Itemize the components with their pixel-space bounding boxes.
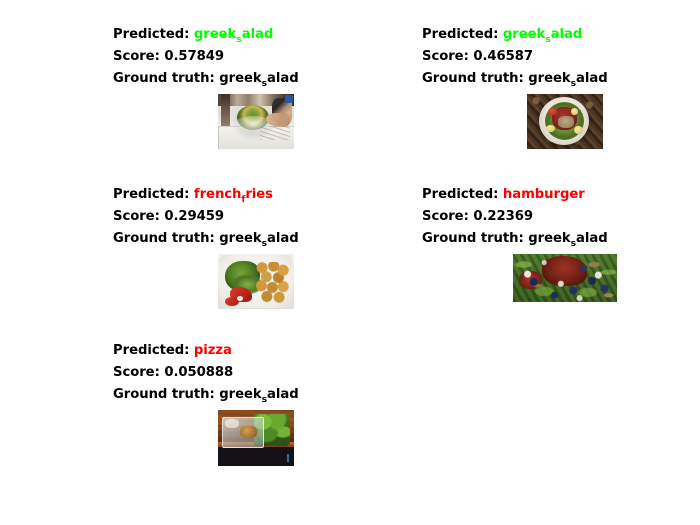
predicted-prefix-label: Predicted:: [422, 27, 503, 42]
predicted-prefix-label: Predicted:: [113, 343, 194, 358]
food-image-greek-salad-bowl: [218, 94, 294, 149]
predicted-prefix-label: Predicted:: [422, 187, 503, 202]
ground-truth-prefix-label: Ground truth:: [113, 231, 219, 246]
panel-4-ground-truth-value: greeksalad: [528, 231, 607, 246]
panel-4-predicted-value: hamburger: [503, 187, 585, 202]
panel-5-score-line: Score: 0.050888: [113, 362, 398, 384]
panel-4-ground-truth-line: Ground truth: greeksalad: [422, 228, 700, 250]
panel-3-predicted-line: Predicted: frenchfries: [113, 184, 398, 206]
score-prefix-label: Score:: [113, 365, 164, 380]
panel-4-score-line: Score: 0.22369: [422, 206, 700, 228]
panel-2-score-line: Score: 0.46587: [422, 46, 700, 68]
panel-1-score-line: Score: 0.57849: [113, 46, 398, 68]
panel-3-ground-truth-value: greeksalad: [219, 231, 298, 246]
panel-1-ground-truth-line: Ground truth: greeksalad: [113, 68, 398, 90]
panel-3-score-value: 0.29459: [164, 209, 224, 224]
ground-truth-prefix-label: Ground truth:: [113, 71, 219, 86]
panel-1-predicted-line: Predicted: greeksalad: [113, 24, 398, 46]
panel-1-predicted-value: greeksalad: [194, 27, 273, 42]
panel-2-score-value: 0.46587: [473, 49, 533, 64]
panel-5-score-value: 0.050888: [164, 365, 233, 380]
panel-5-ground-truth-line: Ground truth: greeksalad: [113, 384, 398, 406]
prediction-panel-3: Predicted: frenchfries Score: 0.29459 Gr…: [113, 184, 398, 339]
panel-2-ground-truth-value: greeksalad: [528, 71, 607, 86]
panel-1-ground-truth-value: greeksalad: [219, 71, 298, 86]
food-image-salad-plate-granite: [527, 94, 603, 149]
prediction-panel-5: Predicted: pizza Score: 0.050888 Ground …: [113, 340, 398, 495]
prediction-panel-4: Predicted: hamburger Score: 0.22369 Grou…: [422, 184, 700, 339]
panel-2-ground-truth-line: Ground truth: greeksalad: [422, 68, 700, 90]
score-prefix-label: Score:: [422, 209, 473, 224]
ground-truth-prefix-label: Ground truth:: [422, 231, 528, 246]
food-image-berry-nut-salad: [513, 254, 617, 302]
panel-3-caption: Predicted: frenchfries Score: 0.29459 Gr…: [113, 184, 398, 250]
food-image-salad-fried-cubes: [218, 254, 294, 309]
panel-2-predicted-line: Predicted: greeksalad: [422, 24, 700, 46]
panel-3-ground-truth-line: Ground truth: greeksalad: [113, 228, 398, 250]
panel-2-caption: Predicted: greeksalad Score: 0.46587 Gro…: [422, 24, 700, 90]
predicted-prefix-label: Predicted:: [113, 27, 194, 42]
panel-5-ground-truth-value: greeksalad: [219, 387, 298, 402]
score-prefix-label: Score:: [113, 49, 164, 64]
panel-1-caption: Predicted: greeksalad Score: 0.57849 Gro…: [113, 24, 398, 90]
ground-truth-prefix-label: Ground truth:: [113, 387, 219, 402]
panel-5-thumbnail-wrap: [113, 410, 398, 466]
predicted-prefix-label: Predicted:: [113, 187, 194, 202]
panel-3-score-line: Score: 0.29459: [113, 206, 398, 228]
panel-1-thumbnail-wrap: [113, 94, 398, 149]
panel-3-predicted-value: frenchfries: [194, 187, 273, 202]
prediction-panel-1: Predicted: greeksalad Score: 0.57849 Gro…: [113, 24, 398, 179]
score-prefix-label: Score:: [422, 49, 473, 64]
score-prefix-label: Score:: [113, 209, 164, 224]
prediction-grid-figure: Predicted: greeksalad Score: 0.57849 Gro…: [0, 0, 700, 525]
panel-4-thumbnail-wrap: [422, 254, 700, 302]
panel-4-caption: Predicted: hamburger Score: 0.22369 Grou…: [422, 184, 700, 250]
panel-2-thumbnail-wrap: [422, 94, 700, 149]
panel-1-score-value: 0.57849: [164, 49, 224, 64]
panel-5-caption: Predicted: pizza Score: 0.050888 Ground …: [113, 340, 398, 406]
food-image-takeout-salad-container: [218, 410, 294, 466]
panel-3-thumbnail-wrap: [113, 254, 398, 309]
ground-truth-prefix-label: Ground truth:: [422, 71, 528, 86]
panel-5-predicted-value: pizza: [194, 343, 232, 358]
panel-5-predicted-line: Predicted: pizza: [113, 340, 398, 362]
panel-4-predicted-line: Predicted: hamburger: [422, 184, 700, 206]
panel-2-predicted-value: greeksalad: [503, 27, 582, 42]
prediction-panel-2: Predicted: greeksalad Score: 0.46587 Gro…: [422, 24, 700, 179]
panel-4-score-value: 0.22369: [473, 209, 533, 224]
